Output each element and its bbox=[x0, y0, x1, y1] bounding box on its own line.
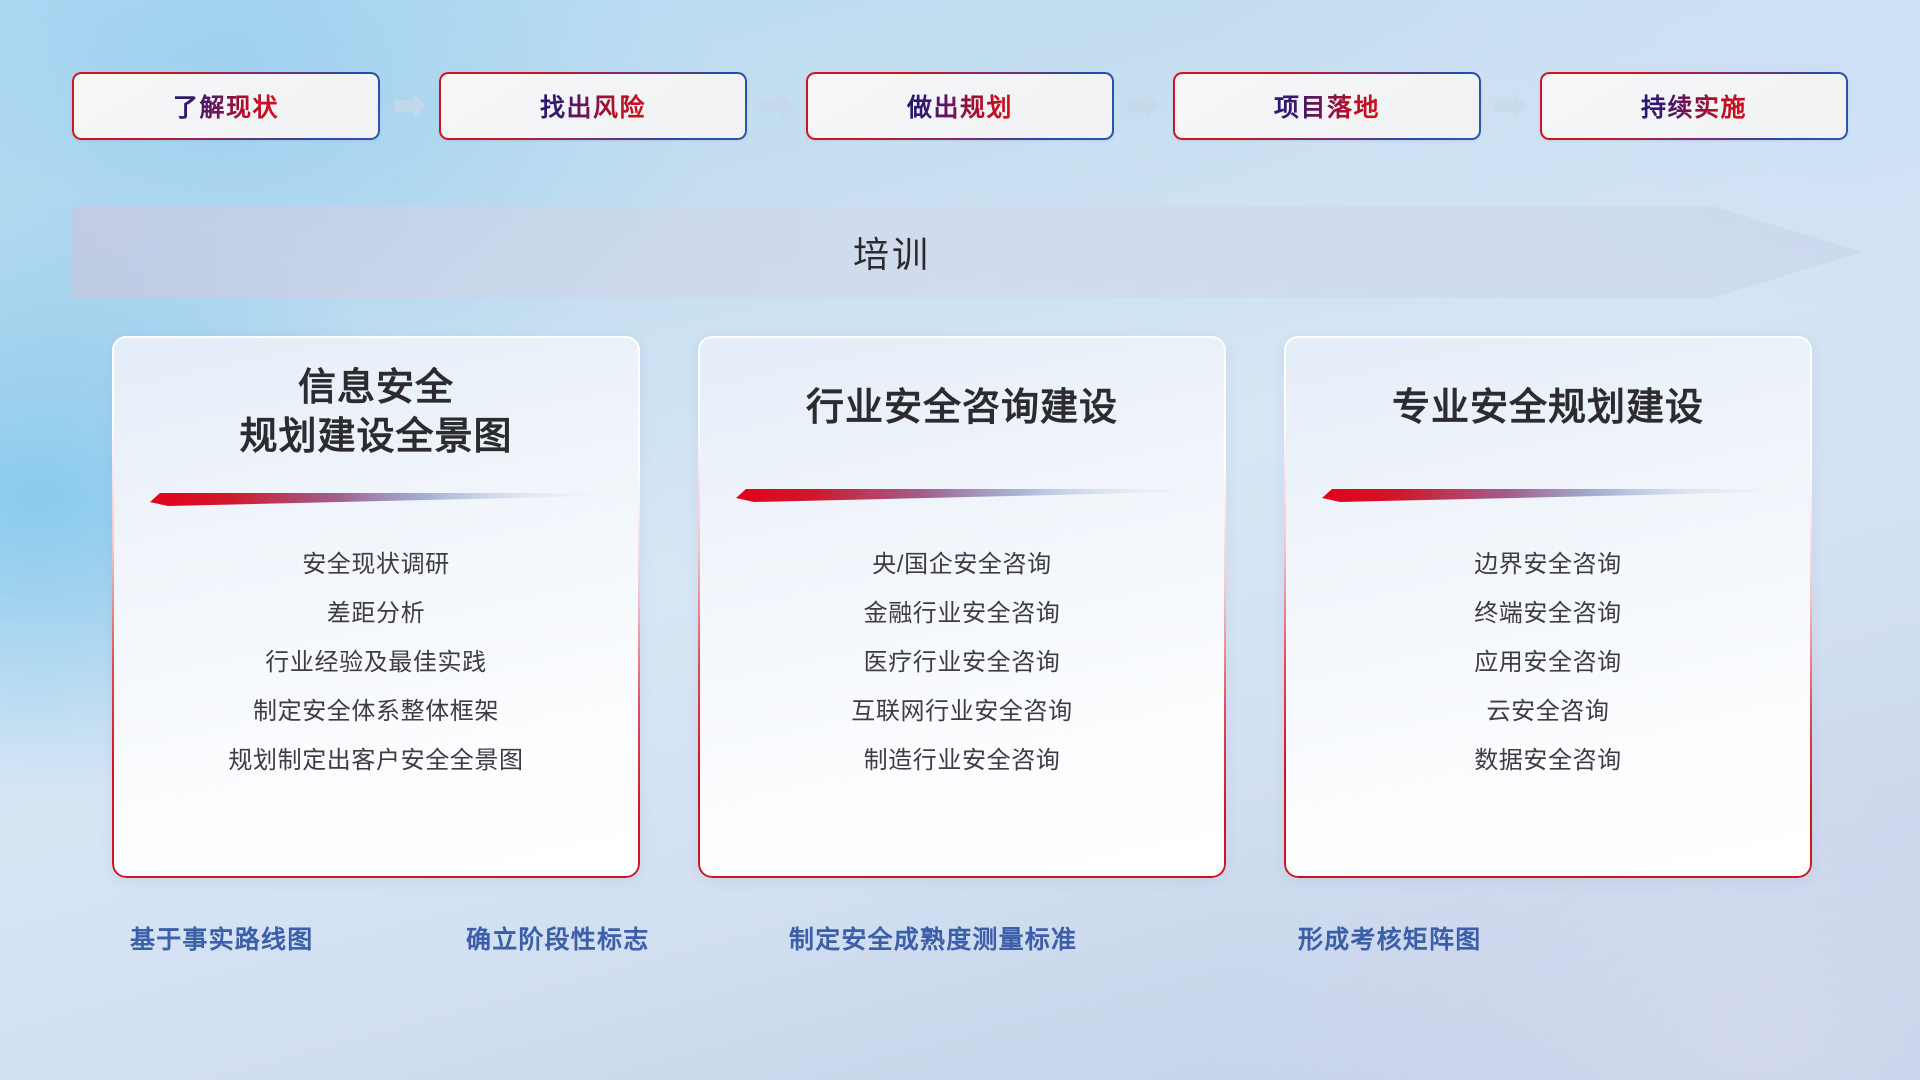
card-industry-security-consulting[interactable]: 行业安全咨询建设 bbox=[698, 336, 1226, 878]
list-item: 数据安全咨询 bbox=[1284, 749, 1812, 773]
list-item: 应用安全咨询 bbox=[1284, 651, 1812, 675]
step-box-1[interactable]: 了解现状 bbox=[72, 72, 380, 140]
arrow-right-icon bbox=[393, 91, 427, 121]
card-divider bbox=[146, 490, 598, 508]
list-item: 金融行业安全咨询 bbox=[698, 602, 1226, 626]
list-item: 安全现状调研 bbox=[112, 553, 640, 577]
footer-label-4: 形成考核矩阵图 bbox=[1298, 920, 1481, 956]
card-divider bbox=[1318, 486, 1770, 504]
training-band-label: 培训 bbox=[72, 206, 1712, 298]
slide-canvas: 了解现状 找出风险 做出规划 项目落地 bbox=[0, 0, 1920, 1080]
step-box-2[interactable]: 找出风险 bbox=[439, 72, 747, 140]
card-divider bbox=[732, 486, 1184, 504]
step-label-1: 了解现状 bbox=[173, 88, 279, 124]
card-title: 专业安全规划建设 bbox=[1284, 384, 1812, 433]
list-item: 央/国企安全咨询 bbox=[698, 553, 1226, 577]
step-box-3[interactable]: 做出规划 bbox=[806, 72, 1114, 140]
card-title: 信息安全 规划建设全景图 bbox=[112, 364, 640, 463]
list-item: 云安全咨询 bbox=[1284, 700, 1812, 724]
list-item: 互联网行业安全咨询 bbox=[698, 700, 1226, 724]
step-box-5[interactable]: 持续实施 bbox=[1540, 72, 1848, 140]
step-label-2: 找出风险 bbox=[540, 88, 646, 124]
card-item-list: 央/国企安全咨询 金融行业安全咨询 医疗行业安全咨询 互联网行业安全咨询 制造行… bbox=[698, 553, 1226, 773]
list-item: 制定安全体系整体框架 bbox=[112, 700, 640, 724]
list-item: 差距分析 bbox=[112, 602, 640, 626]
list-item: 医疗行业安全咨询 bbox=[698, 651, 1226, 675]
list-item: 边界安全咨询 bbox=[1284, 553, 1812, 577]
footer-label-2: 确立阶段性标志 bbox=[466, 920, 649, 956]
step-label-4: 项目落地 bbox=[1274, 88, 1380, 124]
step-label-5: 持续实施 bbox=[1641, 88, 1747, 124]
step-box-4[interactable]: 项目落地 bbox=[1173, 72, 1481, 140]
card-item-list: 边界安全咨询 终端安全咨询 应用安全咨询 云安全咨询 数据安全咨询 bbox=[1284, 553, 1812, 773]
card-row: 信息安全 规划建设全景图 bbox=[112, 336, 1812, 878]
list-item: 制造行业安全咨询 bbox=[698, 749, 1226, 773]
arrow-right-icon bbox=[1127, 91, 1161, 121]
card-professional-security-planning[interactable]: 专业安全规划建设 bbox=[1284, 336, 1812, 878]
list-item: 行业经验及最佳实践 bbox=[112, 651, 640, 675]
training-arrow-band: 培训 bbox=[72, 206, 1862, 298]
arrow-right-icon bbox=[760, 91, 794, 121]
list-item: 终端安全咨询 bbox=[1284, 602, 1812, 626]
arrow-right-icon bbox=[1494, 91, 1528, 121]
step-label-3: 做出规划 bbox=[907, 88, 1013, 124]
card-information-security-blueprint[interactable]: 信息安全 规划建设全景图 bbox=[112, 336, 640, 878]
footer-label-3: 制定安全成熟度测量标准 bbox=[789, 920, 1077, 956]
card-title: 行业安全咨询建设 bbox=[698, 384, 1226, 433]
card-item-list: 安全现状调研 差距分析 行业经验及最佳实践 制定安全体系整体框架 规划制定出客户… bbox=[112, 553, 640, 773]
footer-label-1: 基于事实路线图 bbox=[130, 920, 313, 956]
list-item: 规划制定出客户安全全景图 bbox=[112, 749, 640, 773]
process-step-row: 了解现状 找出风险 做出规划 项目落地 bbox=[72, 70, 1848, 142]
